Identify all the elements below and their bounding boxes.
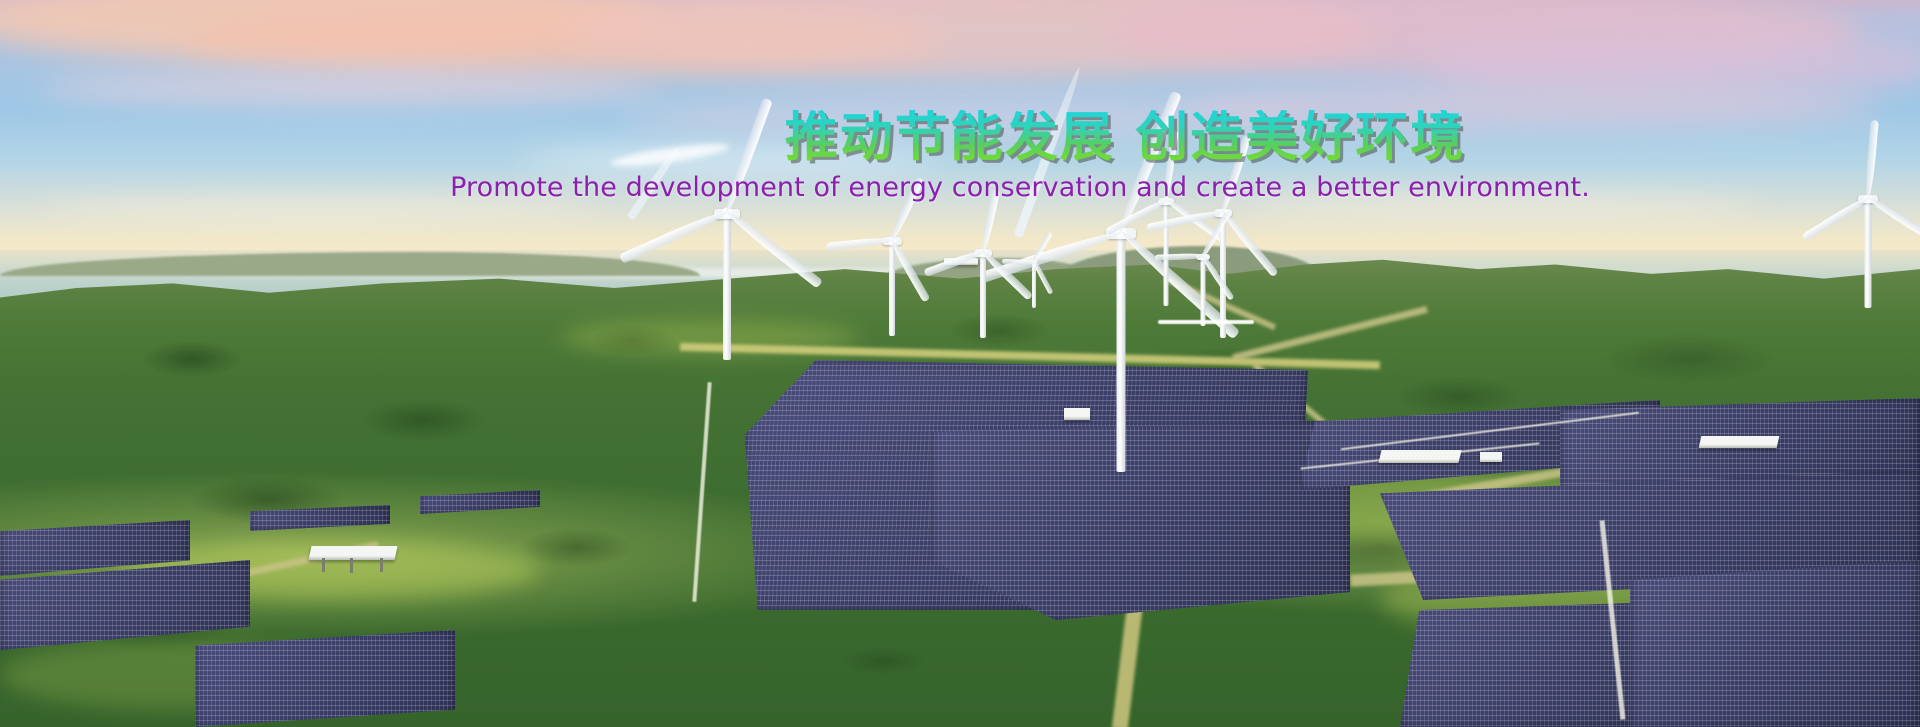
wind-turbine	[882, 240, 902, 336]
maintenance-shed	[1378, 450, 1461, 463]
wind-turbine	[714, 212, 740, 360]
turbine-blade	[1002, 259, 1034, 265]
cloud-streak	[40, 72, 660, 106]
cloud-streak	[1240, 196, 1760, 218]
turbine-tower	[1164, 200, 1169, 306]
wind-turbine	[974, 252, 992, 338]
solar-panel-array	[930, 420, 1350, 620]
cloud-streak	[520, 150, 940, 170]
turbine-blade	[1155, 253, 1203, 261]
turbine-tower	[1201, 256, 1206, 326]
wind-turbine	[1028, 262, 1040, 308]
hero-banner: 推动节能发展 创造美好环境 Promote the development of…	[0, 0, 1920, 727]
cloud-streak	[40, 200, 600, 218]
shed-support	[322, 558, 325, 572]
turbine-tower	[980, 252, 986, 338]
wind-turbine	[1106, 232, 1136, 472]
wind-turbine	[1158, 200, 1174, 306]
maintenance-shed	[1699, 436, 1780, 448]
turbine-tower	[1865, 198, 1872, 308]
shed-support	[350, 558, 353, 573]
turbine-blade	[1158, 320, 1254, 324]
shed-support	[380, 558, 383, 572]
inverter-station	[1480, 452, 1502, 462]
cloud-streak	[1180, 84, 1880, 130]
turbine-tower	[1117, 232, 1126, 472]
wind-turbine	[1196, 256, 1210, 326]
solar-panel-array	[1630, 560, 1920, 727]
wind-turbine	[1858, 198, 1878, 308]
turbine-tower	[723, 212, 731, 360]
turbine-tower	[889, 240, 895, 336]
inverter-station	[1064, 408, 1090, 420]
